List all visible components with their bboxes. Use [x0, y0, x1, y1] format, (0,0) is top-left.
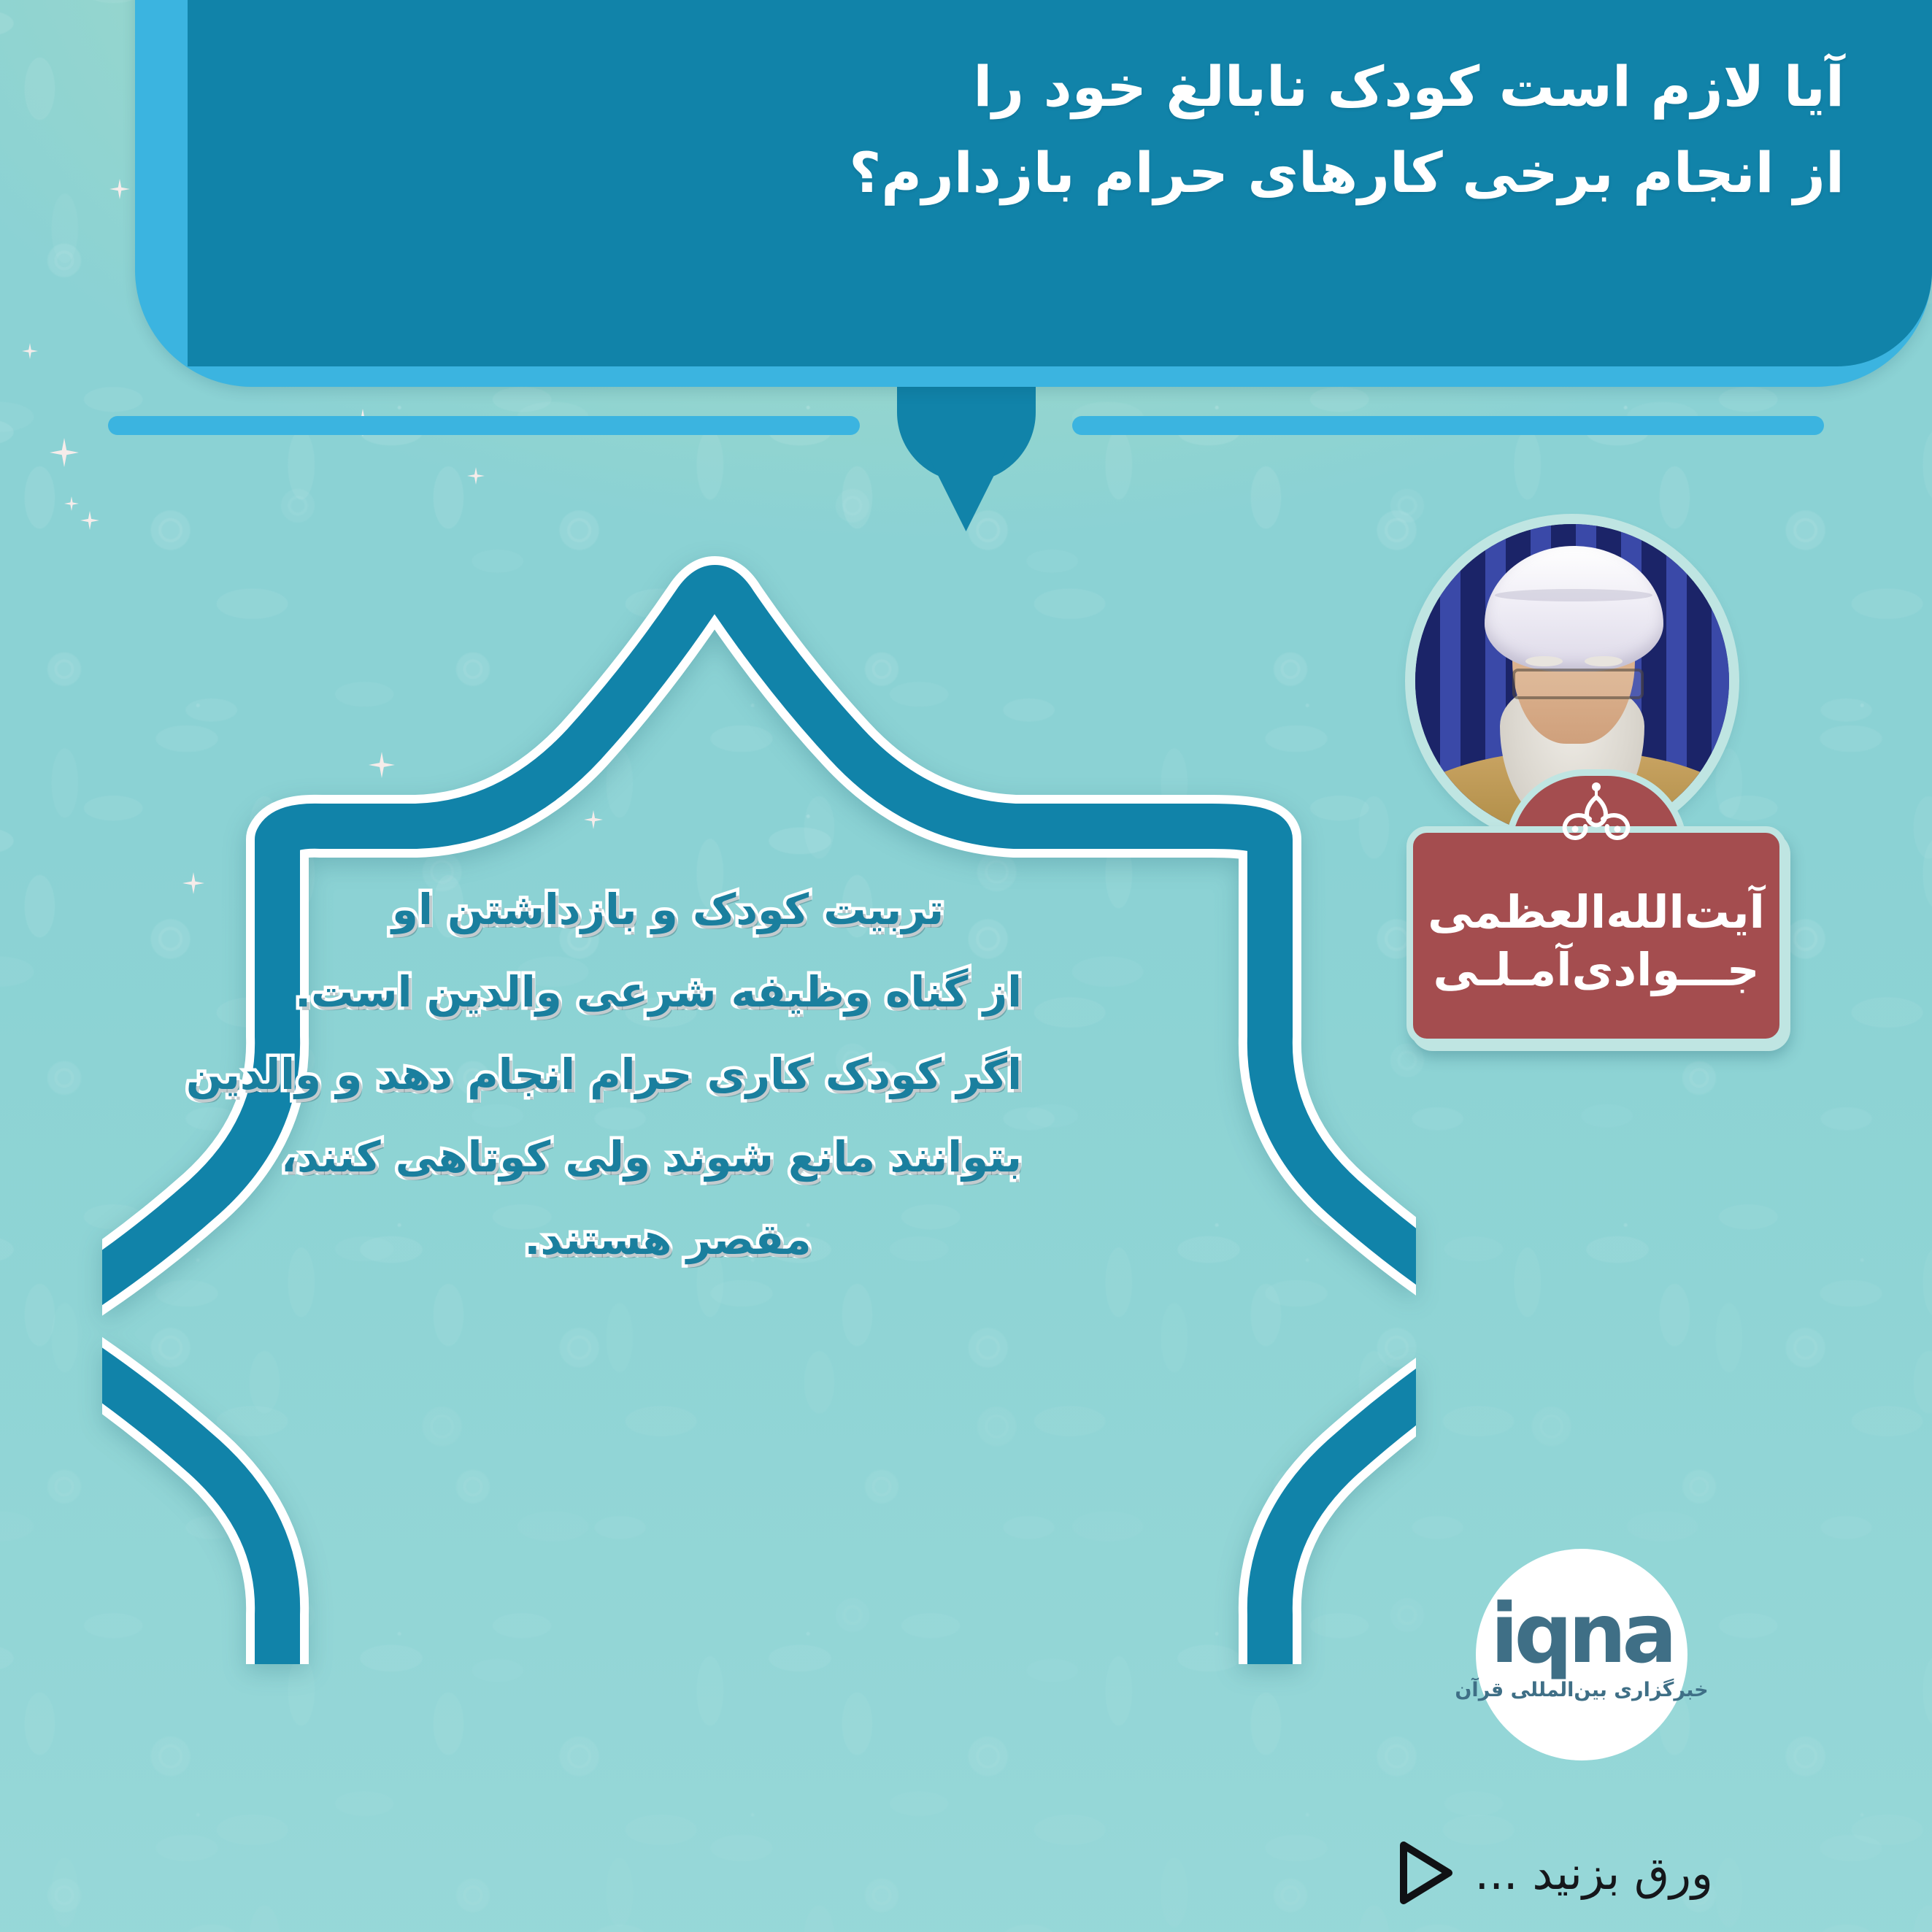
banner-pendant-ornament [897, 380, 1036, 482]
answer-line-1: تربیت کودک و بازداشتن او [314, 869, 1022, 951]
badge-name-line: جـــوادی‌آمـلـی [1433, 941, 1759, 998]
portrait-eyebrow-left [1525, 656, 1563, 667]
question-line-2: از انجام برخی کارهای حرام بازدارم؟ [179, 130, 1844, 216]
badge-flourish-icon [1542, 781, 1651, 848]
header-banner: آیا لازم است کودک نابالغ خود را از انجام… [135, 0, 1932, 387]
answer-line-4: بتوانند مانع شوند ولی کوتاهی کنند، [314, 1116, 1022, 1198]
header-divider-left [108, 416, 860, 435]
answer-line-2: از گناه وظیفه شرعی والدین است. [314, 951, 1022, 1034]
portrait-eyebrow-right [1585, 656, 1623, 667]
question-title: آیا لازم است کودک نابالغ خود را از انجام… [179, 44, 1844, 216]
swipe-hint[interactable]: ورق بزنید ... [1393, 1839, 1714, 1906]
iqna-wordmark: iqna [1490, 1598, 1673, 1671]
answer-line-3: اگر کودک کاری حرام انجام دهد و والدین [314, 1034, 1022, 1116]
scholar-name-badge: آیت‌الله‌العظمی جـــوادی‌آمـلـی [1406, 826, 1786, 1045]
badge-text-block: آیت‌الله‌العظمی جـــوادی‌آمـلـی [1406, 826, 1786, 1045]
poster-canvas: آیا لازم است کودک نابالغ خود را از انجام… [0, 0, 1932, 1932]
portrait-glasses-icon [1512, 669, 1644, 699]
iqna-logo[interactable]: iqna خبرگزاری بین‌المللی قرآن [1476, 1549, 1687, 1760]
iqna-tagline: خبرگزاری بین‌المللی قرآن [1455, 1679, 1708, 1701]
answer-body-text: تربیت کودک و بازداشتن او از گناه وظیفه ش… [314, 869, 1022, 1281]
play-triangle-icon[interactable] [1393, 1839, 1455, 1906]
answer-line-5: مقصر هستند. [314, 1198, 1022, 1281]
header-divider-right [1072, 416, 1824, 435]
swipe-label: ورق بزنید ... [1475, 1847, 1714, 1900]
badge-title-line: آیت‌الله‌العظمی [1428, 883, 1765, 941]
question-line-1: آیا لازم است کودک نابالغ خود را [179, 44, 1844, 130]
